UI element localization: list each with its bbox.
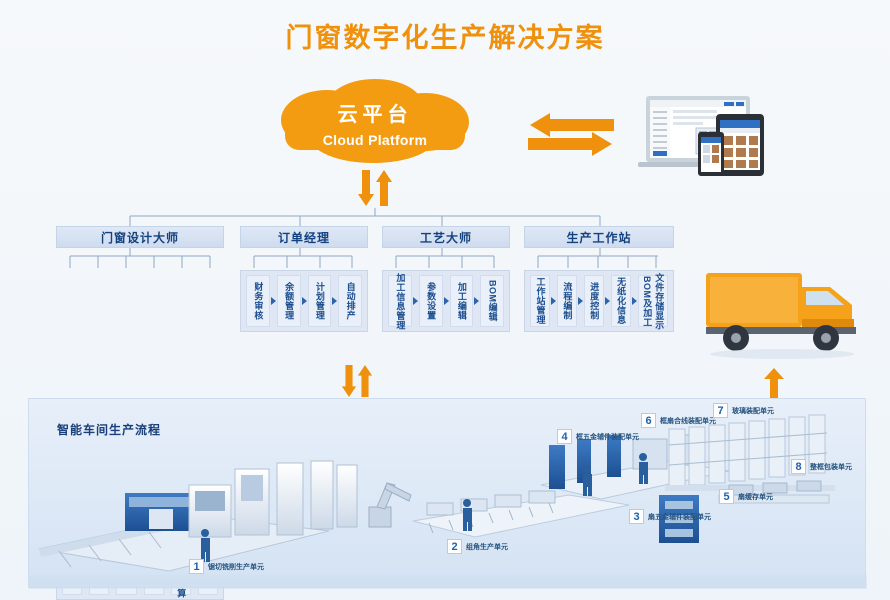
chevron-right-icon [551,297,556,305]
workshop-unit-2[interactable]: 2 组角生产单元 [447,539,508,554]
workshop-unit-3[interactable]: 3 扇五金辅件装配单元 [629,509,711,524]
chevron-right-icon [302,297,307,305]
solution-diagram-page: 门窗数字化生产解决方案 云平台 Cloud Platform [0,0,890,600]
unit-label: 整框包装单元 [810,462,852,472]
module-item[interactable]: 参数设置 [419,275,443,327]
module-item-label: 工作站管理 [534,277,545,325]
modules-to-workshop-arrow [340,365,374,401]
module-item[interactable]: 财务审核 [246,275,270,327]
module-production-workstation[interactable]: 生产工作站 工作站管理 流程编制 进度控制 无纸化信息 BOM及加工 文件存储显… [524,226,674,332]
unit-number: 2 [447,539,462,554]
bidirectional-vertical-arrow-icon [340,365,374,397]
module-item-label: 计划管理 [314,282,325,320]
unit-label: 组角生产单元 [466,542,508,552]
unit-number: 7 [713,403,728,418]
workshop-unit-8[interactable]: 8 整框包装单元 [791,459,852,474]
unit-label: 锯切铣削生产单元 [208,562,264,572]
truck-icon [700,255,872,365]
module-item-label: 加工信息管理 [394,273,405,330]
device-cluster-icon [628,88,788,178]
devices-mockup [628,88,788,178]
chevron-right-icon [332,297,337,305]
chevron-right-icon [632,297,637,305]
module-process-master[interactable]: 工艺大师 加工信息管理 参数设置 加工编辑 BOM编辑 [382,226,510,332]
module-item-label: 加工编辑 [456,282,467,320]
module-header: 订单经理 [240,226,368,248]
module-item-label: 参数设置 [425,282,436,320]
unit-number: 5 [719,489,734,504]
up-arrow-icon [762,368,786,398]
unit-label: 框扇合线装配单元 [660,416,716,426]
chevron-right-icon [578,297,583,305]
module-item[interactable]: 自动排产 [338,275,362,327]
module-item-label: 进度控制 [588,282,599,320]
cloud-icon [265,78,485,168]
cloud-device-arrows [528,112,614,156]
module-header: 生产工作站 [524,226,674,248]
module-items: 工作站管理 流程编制 进度控制 无纸化信息 BOM及加工 文件存储显示 [524,270,674,332]
module-item-label: 文件存储显示 [653,273,664,330]
module-item-label: 流程编制 [561,282,572,320]
workshop-unit-4[interactable]: 4 框五金辅件装配单元 [557,429,639,444]
unit-number: 3 [629,509,644,524]
chevron-right-icon [271,297,276,305]
module-item[interactable]: 无纸化信息 [611,275,631,327]
unit-number: 1 [189,559,204,574]
unit-label: 扇五金辅件装配单元 [648,512,711,522]
workshop-unit-5[interactable]: 5 扇缓存单元 [719,489,773,504]
module-header: 门窗设计大师 [56,226,224,248]
module-item-label: 无纸化信息 [615,277,626,325]
module-item[interactable]: BOM及加工 文件存储显示 [638,275,668,327]
module-header: 工艺大师 [382,226,510,248]
cloud-platform-node[interactable]: 云平台 Cloud Platform [265,78,485,168]
module-order-manager[interactable]: 订单经理 财务审核 余额管理 计划管理 自动排产 [240,226,368,332]
workshop-unit-6[interactable]: 6 框扇合线装配单元 [641,413,716,428]
chevron-right-icon [413,297,418,305]
page-title: 门窗数字化生产解决方案 [0,16,890,55]
delivery-truck [700,255,872,365]
module-design-master[interactable]: 门窗设计大师 设计窗型 实时报价 物料营销 购物车 订单自动结算 人工结算 [56,226,224,332]
workshop-unit-1[interactable]: 1 锯切铣削生产单元 [189,559,264,574]
unit-number: 4 [557,429,572,444]
unit-label: 玻璃装配单元 [732,406,774,416]
module-item[interactable]: 进度控制 [584,275,604,327]
chevron-right-icon [444,297,449,305]
module-item-label-secondary: BOM及加工 [641,276,652,327]
chevron-right-icon [605,297,610,305]
workshop-unit-7[interactable]: 7 玻璃装配单元 [713,403,774,418]
module-item[interactable]: 计划管理 [308,275,332,327]
module-item[interactable]: 加工信息管理 [388,275,412,327]
bidirectional-horizontal-arrow-icon [528,112,614,156]
module-item-label: 余额管理 [283,282,294,320]
workshop-to-truck-arrow [762,368,786,398]
module-item[interactable]: 加工编辑 [450,275,474,327]
workshop-panel: 智能车间生产流程 [28,398,866,588]
unit-label: 扇缓存单元 [738,492,773,502]
module-item[interactable]: 余额管理 [277,275,301,327]
chevron-right-icon [474,297,479,305]
module-item[interactable]: BOM编辑 [480,275,504,327]
module-item-label: 自动排产 [345,282,356,320]
unit-number: 6 [641,413,656,428]
module-items: 加工信息管理 参数设置 加工编辑 BOM编辑 [382,270,510,332]
module-items: 财务审核 余额管理 计划管理 自动排产 [240,270,368,332]
module-item-label: BOM编辑 [487,280,498,322]
module-item-label: 财务审核 [252,282,263,320]
unit-number: 8 [791,459,806,474]
module-item[interactable]: 流程编制 [557,275,577,327]
unit-label: 框五金辅件装配单元 [576,432,639,442]
module-item[interactable]: 工作站管理 [530,275,550,327]
